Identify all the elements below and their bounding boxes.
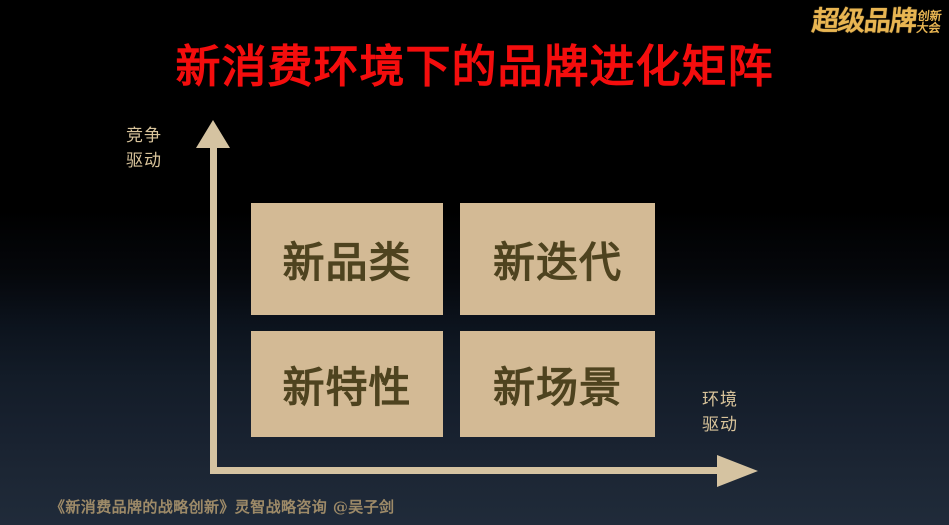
page-title: 新消费环境下的品牌进化矩阵 bbox=[0, 30, 949, 95]
matrix-cell-new-iteration[interactable]: 新迭代 bbox=[460, 203, 655, 315]
matrix-cell-new-feature[interactable]: 新特性 bbox=[251, 331, 443, 437]
y-axis-label: 竞争 驱动 bbox=[126, 124, 162, 173]
footer-credit: 《新消费品牌的战略创新》灵智战略咨询 @吴子剑 bbox=[50, 496, 394, 517]
x-axis-line bbox=[210, 467, 726, 474]
x-axis-arrowhead-icon bbox=[717, 455, 758, 487]
matrix-cell-new-scenario[interactable]: 新场景 bbox=[460, 331, 655, 437]
slide-canvas: 超级品牌 创新 大会 新消费环境下的品牌进化矩阵 竞争 驱动 环境 驱动 新品类… bbox=[0, 0, 949, 525]
y-axis-line bbox=[210, 140, 217, 474]
matrix-cell-label: 新品类 bbox=[282, 229, 411, 290]
logo-sub-line-1: 创新 bbox=[917, 10, 942, 22]
y-axis-arrowhead-icon bbox=[196, 120, 230, 148]
matrix-cell-label: 新迭代 bbox=[493, 229, 622, 290]
x-axis-label: 环境 驱动 bbox=[702, 388, 738, 437]
matrix-cell-label: 新特性 bbox=[282, 354, 411, 415]
matrix-cell-label: 新场景 bbox=[493, 354, 622, 415]
matrix-cell-new-category[interactable]: 新品类 bbox=[251, 203, 443, 315]
matrix-grid: 新品类 新迭代 新特性 新场景 bbox=[251, 203, 655, 437]
